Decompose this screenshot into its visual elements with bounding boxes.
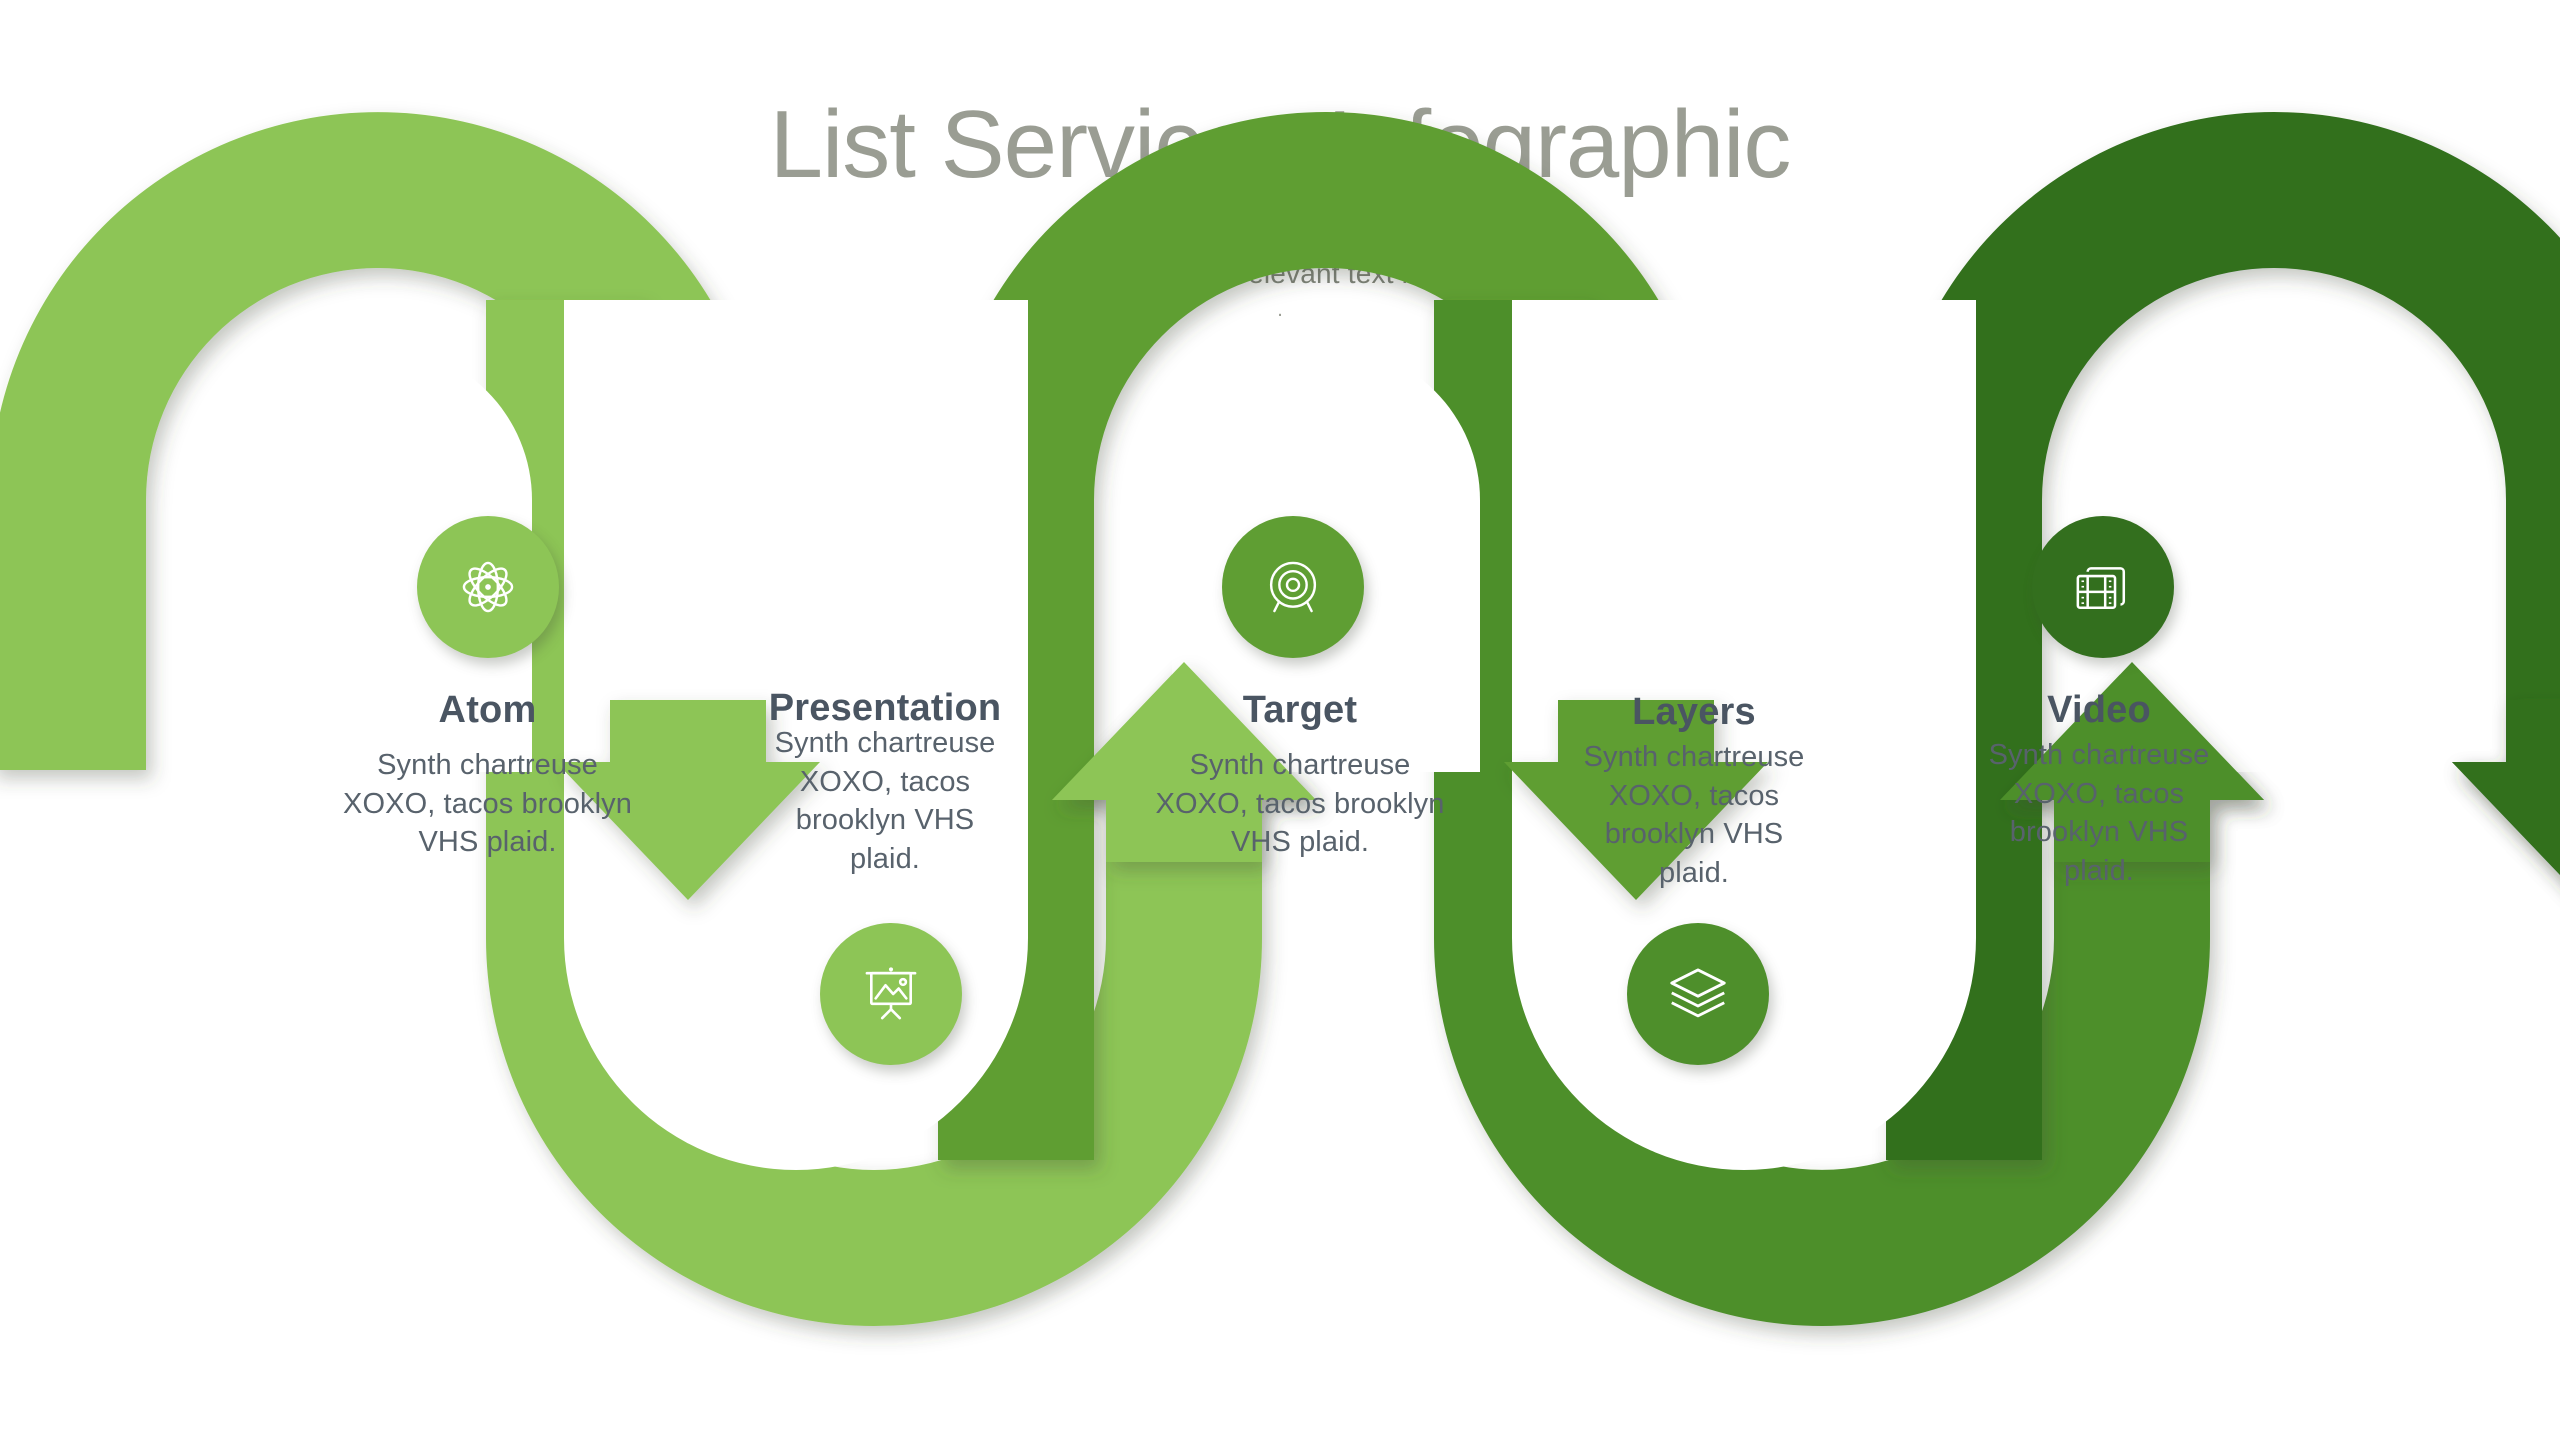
page-subtitle: Write your relevant text here [0, 258, 2560, 290]
node-text-presentation: Presentation Synth chartreuse XOXO, taco… [760, 688, 1010, 878]
node-desc-layers: Synth chartreuse XOXO, tacos brooklyn VH… [1570, 738, 1818, 892]
infographic-canvas: List Services Infographic Write your rel… [0, 0, 2560, 1440]
node-title-target: Target [1155, 690, 1445, 732]
node-text-target: Target Synth chartreuse XOXO, tacos broo… [1155, 690, 1445, 862]
page-title: List Services Infographic [0, 95, 2560, 196]
subtitle-dot: . [0, 305, 2560, 315]
node-title-layers: Layers [1570, 692, 1818, 734]
node-text-video: Video Synth chartreuse XOXO, tacos brook… [1975, 690, 2223, 890]
node-text-atom: Atom Synth chartreuse XOXO, tacos brookl… [340, 690, 635, 862]
node-desc-atom: Synth chartreuse XOXO, tacos brooklyn VH… [340, 746, 635, 862]
atom-icon [453, 552, 523, 622]
layers-icon [1663, 959, 1733, 1029]
presentation-icon [856, 959, 926, 1029]
node-icon-presentation[interactable] [820, 923, 962, 1065]
node-icon-video[interactable] [2032, 516, 2174, 658]
node-icon-target[interactable] [1222, 516, 1364, 658]
node-icon-layers[interactable] [1627, 923, 1769, 1065]
node-title-video: Video [1975, 690, 2223, 732]
node-desc-presentation: Synth chartreuse XOXO, tacos brooklyn VH… [760, 724, 1010, 878]
node-title-atom: Atom [340, 690, 635, 732]
video-icon [2068, 552, 2138, 622]
node-desc-video: Synth chartreuse XOXO, tacos brooklyn VH… [1975, 736, 2223, 890]
node-icon-atom[interactable] [417, 516, 559, 658]
target-icon [1258, 552, 1328, 622]
node-desc-target: Synth chartreuse XOXO, tacos brooklyn VH… [1155, 746, 1445, 862]
node-text-layers: Layers Synth chartreuse XOXO, tacos broo… [1570, 692, 1818, 892]
